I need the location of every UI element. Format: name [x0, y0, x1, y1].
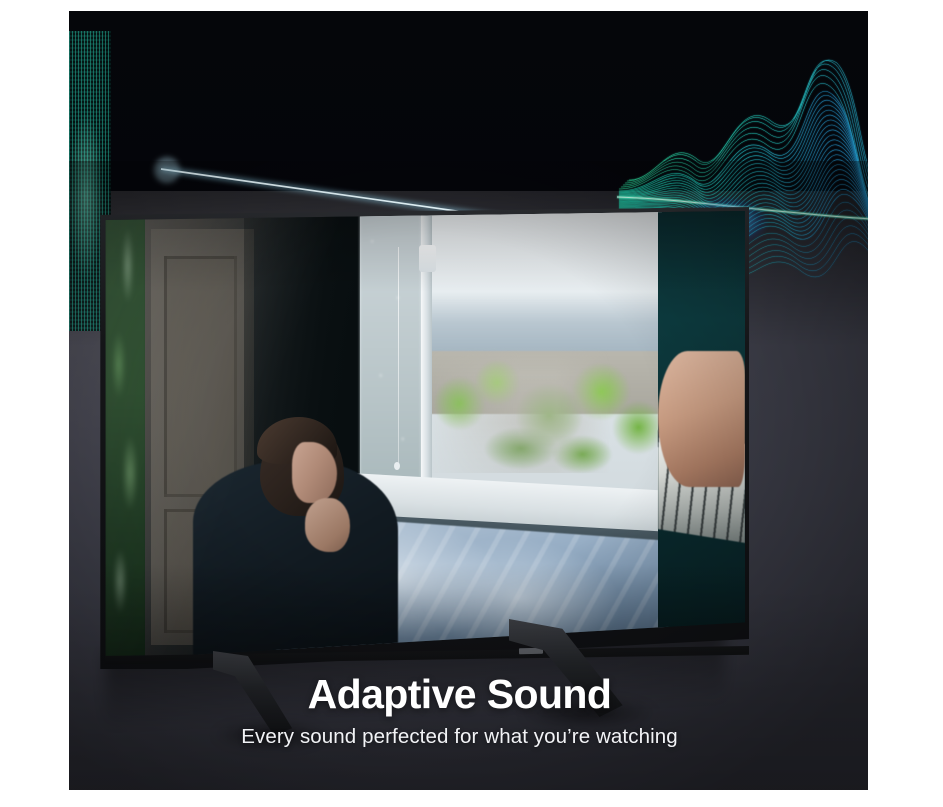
television: [95, 207, 755, 677]
tv-screen: [103, 211, 745, 663]
subheadline: Every sound perfected for what you’re wa…: [69, 725, 850, 750]
screen-blind-cord: [398, 247, 399, 464]
screen-concrete-pillar: [427, 347, 661, 474]
screen-plant-strip: [103, 211, 148, 663]
caption-block: Adaptive Sound Every sound perfected for…: [69, 673, 868, 750]
screen-man-hand: [305, 498, 350, 552]
screen-window-latch: [419, 245, 436, 272]
adaptive-sound-banner: Adaptive Sound Every sound perfected for…: [69, 11, 868, 790]
screen-pianist-hand: [658, 351, 745, 487]
screen-door-panel-upper: [164, 256, 237, 497]
screenshot-root: Adaptive Sound Every sound perfected for…: [0, 0, 943, 807]
headline: Adaptive Sound: [69, 673, 850, 716]
screen-blind-cord-bead: [394, 462, 400, 470]
